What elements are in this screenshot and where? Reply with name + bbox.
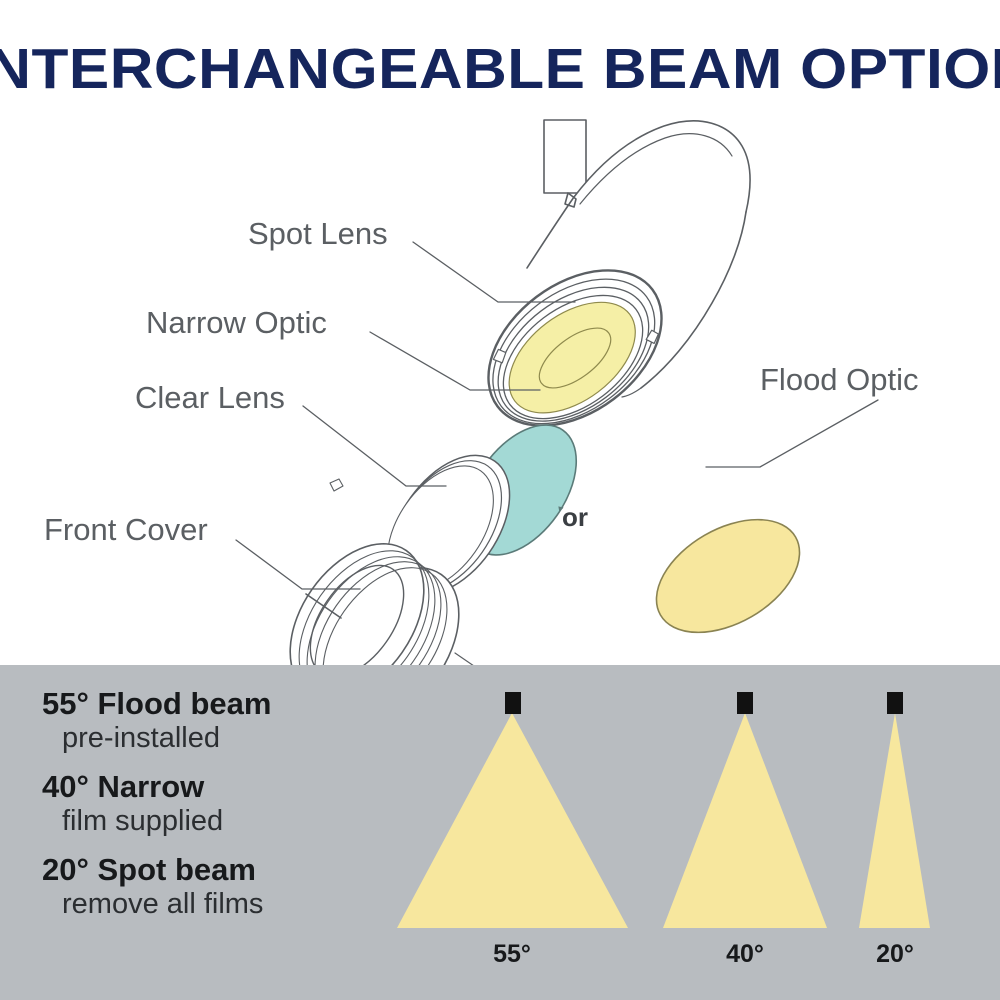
beam-cone-label-40: 40° — [705, 940, 785, 969]
infographic-page: INTERCHANGEABLE BEAM OPTIONS — [0, 0, 1000, 1000]
label-spot-lens: Spot Lens — [248, 216, 388, 252]
beam-cone-20 — [859, 692, 930, 928]
page-title: INTERCHANGEABLE BEAM OPTIONS — [0, 36, 1000, 102]
flood-optic-shape — [637, 496, 819, 655]
beam-options-panel: 55° Flood beam pre-installed 40° Narrow … — [0, 665, 1000, 1000]
label-clear-lens: Clear Lens — [135, 380, 285, 416]
beam-cone-55 — [397, 692, 628, 928]
fixture-block-icon — [505, 692, 521, 714]
label-flood-optic: Flood Optic — [760, 362, 919, 398]
label-front-cover: Front Cover — [44, 512, 208, 548]
beam-cone-label-20: 20° — [855, 940, 935, 969]
beam-cone-shape — [663, 713, 827, 928]
beam-cone-label-55: 55° — [472, 940, 552, 969]
beam-cone-shape — [859, 713, 930, 928]
beam-cone-shape — [397, 713, 628, 928]
exploded-diagram: Spot Lens Narrow Optic Clear Lens Front … — [0, 100, 1000, 665]
lamp-front-rim-icon — [459, 239, 691, 458]
fixture-block-icon — [887, 692, 903, 714]
or-separator-label: or — [562, 502, 588, 533]
beam-cone-40 — [663, 692, 827, 928]
fixture-block-icon — [737, 692, 753, 714]
label-narrow-optic: Narrow Optic — [146, 305, 327, 341]
